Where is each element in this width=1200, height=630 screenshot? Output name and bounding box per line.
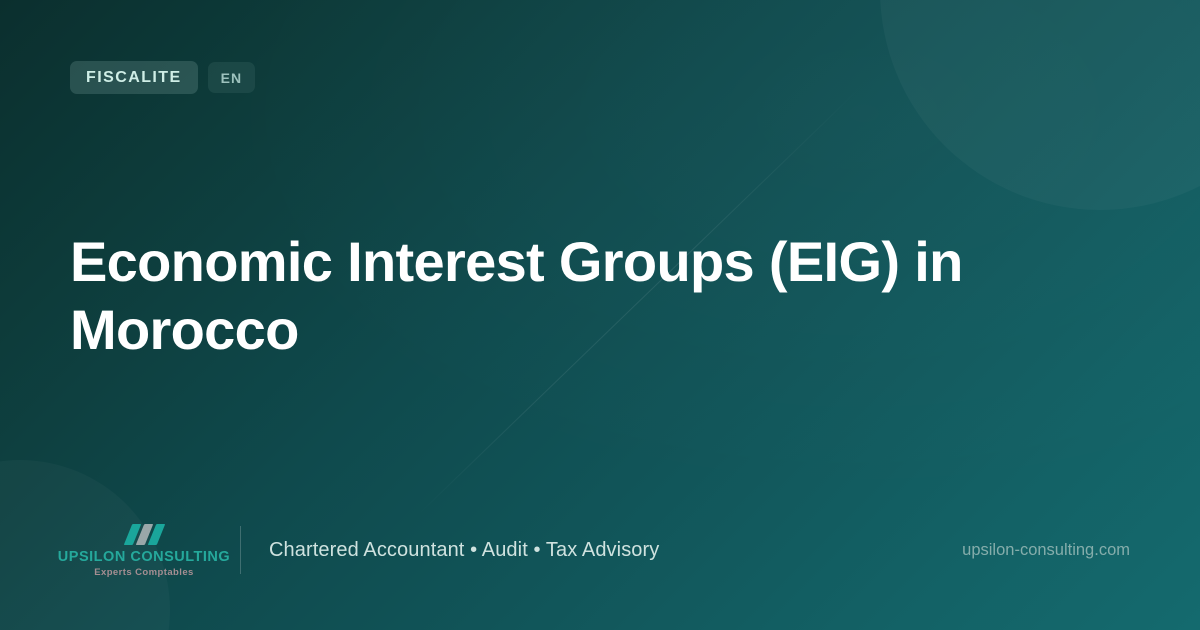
page-title: Economic Interest Groups (EIG) in Morocc…	[70, 228, 1030, 365]
footer-divider	[240, 526, 241, 574]
upsilon-logo-mark-icon	[128, 523, 161, 545]
category-badge[interactable]: FISCALITE	[70, 61, 198, 94]
logo-tagline: Experts Comptables	[94, 567, 194, 578]
language-badge[interactable]: EN	[208, 62, 255, 93]
footer-bar: UPSILON CONSULTING Experts Comptables Ch…	[70, 514, 1130, 586]
decorative-circle-top-right	[880, 0, 1200, 210]
website-url[interactable]: upsilon-consulting.com	[962, 541, 1130, 560]
badge-group: FISCALITE EN	[70, 61, 255, 94]
social-share-card: FISCALITE EN Economic Interest Groups (E…	[0, 0, 1200, 630]
services-list: Chartered Accountant • Audit • Tax Advis…	[269, 539, 659, 562]
logo-company-name: UPSILON CONSULTING	[58, 549, 230, 565]
brand-logo[interactable]: UPSILON CONSULTING Experts Comptables	[70, 523, 218, 578]
